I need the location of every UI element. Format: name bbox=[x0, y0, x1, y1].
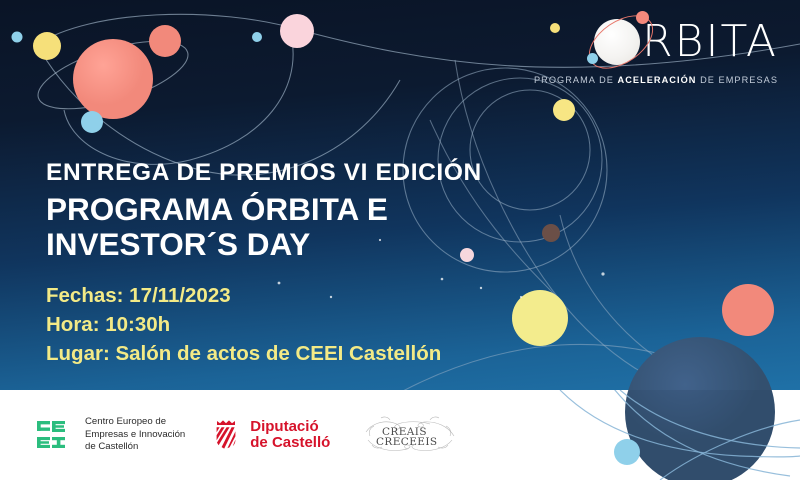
diputacio-crown-shield-icon bbox=[215, 420, 241, 450]
event-poster: RBITA PROGRAMA DE ACELERACIÓN DE EMPRESA… bbox=[0, 0, 800, 480]
diputacio-logo-text: Diputació de Castelló bbox=[250, 419, 330, 452]
event-place-line: Lugar: Salón de actos de CEEI Castellón bbox=[46, 339, 441, 368]
orbita-planet-o-icon bbox=[594, 19, 640, 65]
event-date-line: Fechas: 17/11/2023 bbox=[46, 281, 441, 310]
headline-kicker: ENTREGA DE PREMIOS VI EDICIÓN bbox=[46, 160, 482, 187]
planet-coral-large bbox=[73, 39, 153, 119]
logo-creais-creceeis[interactable]: CREAIS CRECEEIS bbox=[360, 414, 460, 456]
planet-brown bbox=[542, 224, 560, 242]
creais-text-line-2: CRECEEIS bbox=[376, 436, 438, 448]
planet-yellow-upper-right bbox=[553, 99, 575, 121]
planet-blue-dot-left bbox=[12, 32, 23, 43]
logo-ceei[interactable]: Centro Europeo de Empresas e Innovación … bbox=[36, 416, 185, 454]
event-time-line: Hora: 10:30h bbox=[46, 310, 441, 339]
diputacio-text-line-2: de Castelló bbox=[250, 435, 330, 452]
planet-blue-small bbox=[81, 111, 103, 133]
planet-pink-large bbox=[280, 14, 314, 48]
diputacio-text-line-1: Diputació bbox=[250, 419, 330, 436]
tagline-bold: ACELERACIÓN bbox=[618, 75, 697, 85]
headline-title-line-2: INVESTOR´S DAY bbox=[46, 227, 482, 262]
tagline-pre: PROGRAMA DE bbox=[534, 75, 618, 85]
headline-title-line-1: PROGRAMA ÓRBITA E bbox=[46, 192, 482, 227]
orbita-logo: RBITA PROGRAMA DE ACELERACIÓN DE EMPRESA… bbox=[534, 16, 778, 85]
orbita-moon-yellow-icon bbox=[550, 23, 560, 33]
orbita-wordmark: RBITA bbox=[534, 16, 778, 68]
creais-creceeis-ornamental-logo: CREAIS CRECEEIS bbox=[360, 414, 460, 456]
footer-logo-row: Centro Europeo de Empresas e Innovación … bbox=[0, 390, 800, 480]
orbita-letters: RBITA bbox=[642, 20, 778, 64]
planet-yellow-large bbox=[512, 290, 568, 346]
orbita-moon-blue-icon bbox=[587, 53, 598, 64]
ceei-text-line-3: de Castellón bbox=[85, 441, 185, 454]
orbita-tagline: PROGRAMA DE ACELERACIÓN DE EMPRESAS bbox=[534, 75, 778, 85]
orbita-moon-coral-icon bbox=[636, 11, 649, 24]
ceei-logo-text: Centro Europeo de Empresas e Innovación … bbox=[85, 416, 185, 454]
ceei-text-line-1: Centro Europeo de bbox=[85, 416, 185, 429]
event-details-block: Fechas: 17/11/2023 Hora: 10:30h Lugar: S… bbox=[46, 281, 441, 368]
headline-title: PROGRAMA ÓRBITA E INVESTOR´S DAY bbox=[46, 192, 482, 263]
creais-wordmark: CREAIS CRECEEIS bbox=[376, 426, 438, 448]
ceei-mark-icon bbox=[36, 420, 76, 450]
tagline-post: DE EMPRESAS bbox=[696, 75, 778, 85]
ceei-text-line-2: Empresas e Innovación bbox=[85, 429, 185, 442]
headline-block: ENTREGA DE PREMIOS VI EDICIÓN PROGRAMA Ó… bbox=[46, 160, 482, 262]
planet-coral-right bbox=[722, 284, 774, 336]
planet-blue-dot-mid bbox=[252, 32, 262, 42]
planet-yellow-small bbox=[33, 32, 61, 60]
logo-diputacio-castello[interactable]: Diputació de Castelló bbox=[215, 419, 330, 452]
planet-coral-small bbox=[149, 25, 181, 57]
